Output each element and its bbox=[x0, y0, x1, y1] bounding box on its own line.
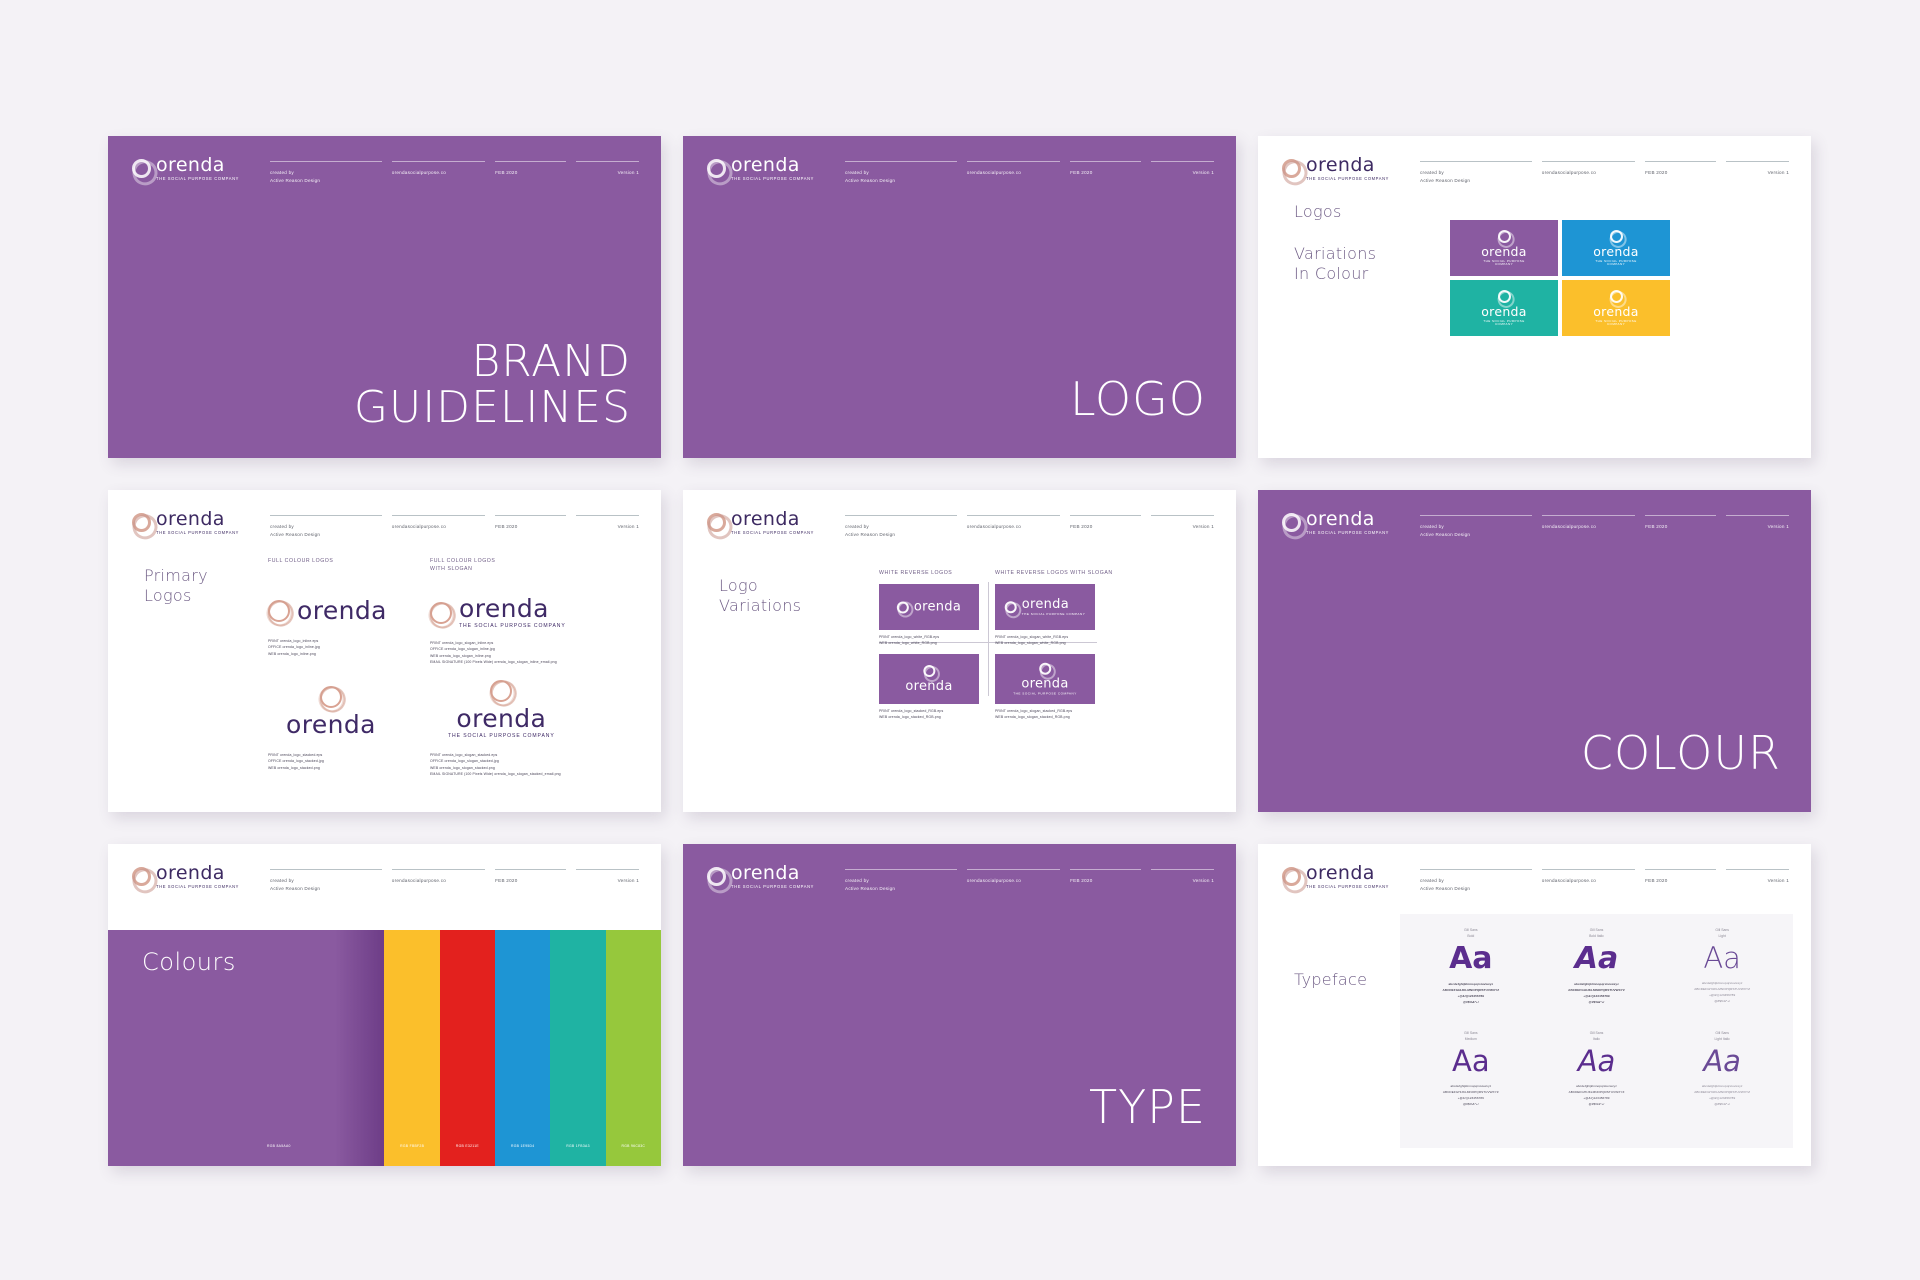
brand-wordmark: orenda bbox=[731, 156, 814, 175]
meta-created-by: created by Active Reason Design bbox=[845, 161, 967, 184]
column-head-white-reverse-slogan: WHITE REVERSE LOGOS WITH SLOGAN bbox=[995, 570, 1113, 578]
orenda-ring-icon bbox=[1282, 159, 1301, 178]
brand-lockup: orenda THE SOCIAL PURPOSE COMPANY bbox=[707, 156, 827, 181]
typeface-specimen-0[interactable]: Gill Sans Bold Aa abcdefghijklmnopqrstuv… bbox=[1408, 928, 1534, 1031]
orenda-ring-icon bbox=[1610, 290, 1623, 303]
meta-version: Version 1 bbox=[1726, 161, 1789, 184]
brand-lockup: orenda THE SOCIAL PURPOSE COMPANY bbox=[1282, 156, 1402, 181]
slide-header: orenda THE SOCIAL PURPOSE COMPANY create… bbox=[1282, 510, 1789, 538]
brand-wordmark: orenda bbox=[731, 510, 814, 529]
column-head-full-colour-slogan: FULL COLOUR LOGOS WITH SLOGAN bbox=[430, 558, 495, 574]
meta-rule bbox=[495, 515, 566, 516]
brand-slogan: THE SOCIAL PURPOSE COMPANY bbox=[1306, 531, 1389, 535]
meta-rule bbox=[967, 161, 1060, 162]
meta-rule bbox=[495, 161, 566, 162]
orenda-ring-icon bbox=[1282, 867, 1301, 886]
meta-website: orendasocialpurpose.co bbox=[967, 515, 1070, 538]
brand-slogan: THE SOCIAL PURPOSE COMPANY bbox=[156, 177, 239, 181]
meta-version-value: Version 1 bbox=[1726, 169, 1789, 177]
meta-created-label: created by bbox=[1420, 523, 1542, 531]
logo-block-stacked-slogan[interactable]: orenda THE SOCIAL PURPOSE COMPANY bbox=[448, 680, 555, 739]
meta-rule bbox=[845, 869, 957, 870]
reverse-logo-box[interactable]: orenda THE SOCIAL PURPOSE COMPANY bbox=[995, 584, 1095, 630]
meta-date-value: FEB 2020 bbox=[495, 877, 576, 885]
reverse-logo-box[interactable]: orenda THE SOCIAL PURPOSE COMPANY bbox=[995, 654, 1095, 704]
meta-rule bbox=[845, 515, 957, 516]
slide-deck-grid: orenda THE SOCIAL PURPOSE COMPANY create… bbox=[0, 0, 1920, 1280]
logo-stacked: orenda bbox=[286, 686, 376, 737]
colour-swatch-deep-purple[interactable] bbox=[335, 930, 385, 1166]
logo-block-inline[interactable]: orenda bbox=[268, 598, 387, 623]
typeface-label: Gill Sans Bold bbox=[1408, 928, 1534, 940]
meta-created-by: created by Active Reason Design bbox=[270, 161, 392, 184]
slide-colours[interactable]: orenda THE SOCIAL PURPOSE COMPANY create… bbox=[108, 844, 661, 1166]
meta-website-value: orendasocialpurpose.co bbox=[967, 877, 1070, 885]
meta-website: orendasocialpurpose.co bbox=[1542, 161, 1645, 184]
meta-rule bbox=[1070, 515, 1141, 516]
typeface-label: Gill Sans Medium bbox=[1408, 1031, 1534, 1043]
colour-swatch-hex: RGB 96C83C bbox=[606, 1144, 661, 1148]
meta-created-value: Active Reason Design bbox=[1420, 531, 1542, 539]
brand-lockup: orenda THE SOCIAL PURPOSE COMPANY bbox=[132, 864, 252, 889]
logo-block-inline-slogan[interactable]: orenda THE SOCIAL PURPOSE COMPANY bbox=[430, 596, 566, 629]
reverse-wordmark: orenda bbox=[1022, 598, 1086, 611]
divider-vertical bbox=[988, 582, 989, 696]
meta-date: FEB 2020 bbox=[495, 515, 576, 538]
meta-rule bbox=[576, 515, 639, 516]
slide-header: orenda THE SOCIAL PURPOSE COMPANY create… bbox=[132, 864, 639, 892]
meta-website: orendasocialpurpose.co bbox=[392, 161, 495, 184]
meta-version-value: Version 1 bbox=[1726, 877, 1789, 885]
meta-rule bbox=[392, 515, 485, 516]
meta-created-by: created by Active Reason Design bbox=[845, 515, 967, 538]
meta-rule bbox=[1420, 869, 1532, 870]
meta-version: Version 1 bbox=[1726, 869, 1789, 892]
slide-title: LOGO bbox=[1070, 375, 1206, 424]
variation-slogan: THE SOCIAL PURPOSE COMPANY bbox=[1477, 260, 1531, 266]
meta-rule bbox=[1542, 515, 1635, 516]
brand-wordmark: orenda bbox=[731, 864, 814, 883]
meta-version: Version 1 bbox=[576, 869, 639, 892]
meta-rule bbox=[270, 161, 382, 162]
slide-title-line1: TYPE bbox=[1089, 1083, 1206, 1132]
meta-rule bbox=[1151, 515, 1214, 516]
header-meta: created by Active Reason Design orendaso… bbox=[845, 161, 1214, 184]
meta-version-value: Version 1 bbox=[576, 877, 639, 885]
brand-lockup: orenda THE SOCIAL PURPOSE COMPANY bbox=[132, 156, 252, 181]
meta-created-value: Active Reason Design bbox=[845, 531, 967, 539]
meta-rule bbox=[1542, 161, 1635, 162]
meta-rule bbox=[1645, 515, 1716, 516]
column-head-white-reverse: WHITE REVERSE LOGOS bbox=[879, 570, 952, 578]
meta-rule bbox=[1070, 161, 1141, 162]
colour-swatch-yellow[interactable]: RGB FBBF2B bbox=[384, 930, 439, 1166]
brand-wordmark: orenda bbox=[156, 510, 239, 529]
meta-date: FEB 2020 bbox=[495, 869, 576, 892]
reverse-wordmark: orenda bbox=[914, 601, 961, 614]
meta-version-value: Version 1 bbox=[576, 169, 639, 177]
typeface-grid: Gill Sans Bold Aa abcdefghijklmnopqrstuv… bbox=[1400, 914, 1793, 1148]
brand-slogan: THE SOCIAL PURPOSE COMPANY bbox=[731, 177, 814, 181]
meta-created-by: created by Active Reason Design bbox=[845, 869, 967, 892]
meta-created-value: Active Reason Design bbox=[1420, 885, 1542, 893]
typeface-charset: abcdefghijklmnopqrstuvwxyz ABCDEFGHIJKLM… bbox=[1659, 980, 1785, 1005]
meta-version-value: Version 1 bbox=[1151, 877, 1214, 885]
logo-wordmark: orenda bbox=[297, 598, 387, 623]
meta-created-value: Active Reason Design bbox=[270, 177, 392, 185]
colour-swatch-hex: RGB FBBF2B bbox=[384, 1144, 439, 1148]
meta-version: Version 1 bbox=[1151, 515, 1214, 538]
meta-version: Version 1 bbox=[1151, 161, 1214, 184]
meta-version-value: Version 1 bbox=[1726, 523, 1789, 531]
meta-website-value: orendasocialpurpose.co bbox=[1542, 523, 1645, 531]
meta-rule bbox=[1726, 161, 1789, 162]
meta-date: FEB 2020 bbox=[1645, 161, 1726, 184]
reverse-slogan: THE SOCIAL PURPOSE COMPANY bbox=[1022, 613, 1086, 616]
typeface-specimen-4[interactable]: Gill Sans Italic Aa abcdefghijklmnopqrst… bbox=[1534, 1031, 1660, 1134]
meta-created-value: Active Reason Design bbox=[270, 885, 392, 893]
slide-title-line1: LOGO bbox=[1070, 375, 1206, 424]
typeface-charset: abcdefghijklmnopqrstuvwxyz ABCDEFGHIJKLM… bbox=[1659, 1083, 1785, 1108]
filespec-reverse-stacked-slogan: PRINT orenda_logo_slogan_stacked_RGB.eps… bbox=[995, 708, 1072, 721]
typeface-sample-aa: Aa bbox=[1408, 1047, 1534, 1076]
slide-logo-title[interactable]: orenda THE SOCIAL PURPOSE COMPANY create… bbox=[683, 136, 1236, 458]
filespec-stacked-slogan: PRINT orenda_logo_slogan_stacked.eps OFF… bbox=[430, 752, 561, 778]
meta-rule bbox=[1645, 869, 1716, 870]
reverse-inline-slogan: orenda THE SOCIAL PURPOSE COMPANY bbox=[995, 584, 1095, 630]
brand-lockup: orenda THE SOCIAL PURPOSE COMPANY bbox=[707, 510, 827, 535]
colour-swatch-hex: RGB 1E95D4 bbox=[495, 1144, 550, 1148]
meta-created-by: created by Active Reason Design bbox=[270, 869, 392, 892]
meta-created-label: created by bbox=[270, 877, 392, 885]
brand-wordmark: orenda bbox=[1306, 864, 1389, 883]
meta-rule bbox=[1420, 515, 1532, 516]
logo-variation-purple[interactable]: orenda THE SOCIAL PURPOSE COMPANY bbox=[1450, 220, 1558, 276]
filespec-reverse-inline-slogan: PRINT orenda_logo_slogan_white_RGB.eps W… bbox=[995, 634, 1068, 647]
meta-rule bbox=[576, 869, 639, 870]
header-meta: created by Active Reason Design orendaso… bbox=[1420, 869, 1789, 892]
meta-date-value: FEB 2020 bbox=[1070, 877, 1151, 885]
meta-date-value: FEB 2020 bbox=[1645, 169, 1726, 177]
orenda-ring-icon bbox=[1498, 290, 1511, 303]
orenda-ring-icon bbox=[1005, 601, 1017, 613]
header-meta: created by Active Reason Design orendaso… bbox=[270, 869, 639, 892]
logo-stacked-with-slogan: orenda THE SOCIAL PURPOSE COMPANY bbox=[448, 680, 555, 739]
slide-logo-variations[interactable]: orenda THE SOCIAL PURPOSE COMPANY create… bbox=[683, 490, 1236, 812]
logo-inline: orenda bbox=[268, 598, 387, 623]
meta-website: orendasocialpurpose.co bbox=[967, 161, 1070, 184]
reverse-slogan: THE SOCIAL PURPOSE COMPANY bbox=[1013, 692, 1077, 695]
meta-rule bbox=[967, 869, 1060, 870]
section-label-logos: Logos bbox=[1294, 202, 1342, 222]
filespec-reverse-inline: PRINT orenda_logo_white_RGB.eps WEB oren… bbox=[879, 634, 939, 647]
slide-colour-title[interactable]: orenda THE SOCIAL PURPOSE COMPANY create… bbox=[1258, 490, 1811, 812]
filespec-inline: PRINT orenda_logo_inline.eps OFFICE oren… bbox=[268, 638, 320, 657]
brand-lockup: orenda THE SOCIAL PURPOSE COMPANY bbox=[1282, 510, 1402, 535]
brand-wordmark: orenda bbox=[156, 864, 239, 883]
section-label-primary-logos: PrimaryLogos bbox=[144, 566, 208, 605]
meta-rule bbox=[1420, 161, 1532, 162]
colour-swatch-green[interactable]: RGB 96C83C bbox=[606, 930, 661, 1166]
meta-date-value: FEB 2020 bbox=[1070, 523, 1151, 531]
brand-slogan: THE SOCIAL PURPOSE COMPANY bbox=[731, 531, 814, 535]
meta-rule bbox=[392, 869, 485, 870]
slide-header: orenda THE SOCIAL PURPOSE COMPANY create… bbox=[707, 510, 1214, 538]
meta-rule bbox=[1726, 515, 1789, 516]
section-label-typeface: Typeface bbox=[1294, 970, 1367, 990]
slide-header: orenda THE SOCIAL PURPOSE COMPANY create… bbox=[707, 156, 1214, 184]
meta-website-value: orendasocialpurpose.co bbox=[1542, 169, 1645, 177]
meta-created-label: created by bbox=[1420, 877, 1542, 885]
typeface-sample-aa: Aa bbox=[1408, 944, 1534, 974]
orenda-ring-icon bbox=[707, 159, 726, 178]
orenda-ring-icon bbox=[707, 867, 726, 886]
filespec-inline-slogan: PRINT orenda_logo_slogan_inline.eps OFFI… bbox=[430, 640, 557, 666]
meta-created-value: Active Reason Design bbox=[845, 177, 967, 185]
orenda-ring-icon bbox=[897, 601, 909, 613]
meta-date: FEB 2020 bbox=[1645, 515, 1726, 538]
meta-version-value: Version 1 bbox=[576, 523, 639, 531]
slide-primary-logos[interactable]: orenda THE SOCIAL PURPOSE COMPANY create… bbox=[108, 490, 661, 812]
logo-wordmark: orenda bbox=[459, 596, 566, 621]
typeface-sample-aa: Aa bbox=[1534, 1047, 1660, 1076]
meta-rule bbox=[270, 515, 382, 516]
section-label-variations: VariationsIn Colour bbox=[1294, 244, 1376, 283]
colour-swatch-hex: RGB E3211E bbox=[440, 1144, 495, 1148]
meta-created-by: created by Active Reason Design bbox=[270, 515, 392, 538]
filespec-stacked: PRINT orenda_logo_stacked.eps OFFICE ore… bbox=[268, 752, 324, 771]
logo-block-stacked[interactable]: orenda bbox=[286, 686, 376, 737]
slide-title: TYPE bbox=[1089, 1083, 1206, 1132]
meta-created-value: Active Reason Design bbox=[845, 885, 967, 893]
typeface-charset: abcdefghijklmnopqrstuvwxyz ABCDEFGHIJKLM… bbox=[1534, 981, 1660, 1006]
slide-brand-guidelines-title[interactable]: orenda THE SOCIAL PURPOSE COMPANY create… bbox=[108, 136, 661, 458]
slide-header: orenda THE SOCIAL PURPOSE COMPANY create… bbox=[1282, 864, 1789, 892]
brand-lockup: orenda THE SOCIAL PURPOSE COMPANY bbox=[707, 864, 827, 889]
meta-version: Version 1 bbox=[576, 161, 639, 184]
meta-website-value: orendasocialpurpose.co bbox=[392, 877, 495, 885]
reverse-inline: orenda bbox=[879, 584, 979, 630]
meta-website: orendasocialpurpose.co bbox=[1542, 515, 1645, 538]
header-meta: created by Active Reason Design orendaso… bbox=[845, 515, 1214, 538]
meta-rule bbox=[576, 161, 639, 162]
meta-date: FEB 2020 bbox=[495, 161, 576, 184]
variation-slogan: THE SOCIAL PURPOSE COMPANY bbox=[1477, 320, 1531, 326]
meta-website-value: orendasocialpurpose.co bbox=[392, 523, 495, 531]
meta-rule bbox=[1151, 161, 1214, 162]
slide-title-line2: GUIDELINES bbox=[354, 385, 631, 432]
meta-created-value: Active Reason Design bbox=[1420, 177, 1542, 185]
meta-rule bbox=[1726, 869, 1789, 870]
meta-rule bbox=[1151, 869, 1214, 870]
meta-version: Version 1 bbox=[576, 515, 639, 538]
meta-date-value: FEB 2020 bbox=[495, 523, 576, 531]
reverse-logo-box[interactable]: orenda bbox=[879, 654, 979, 704]
logo-slogan: THE SOCIAL PURPOSE COMPANY bbox=[448, 733, 555, 739]
logo-wordmark: orenda bbox=[286, 712, 376, 737]
brand-slogan: THE SOCIAL PURPOSE COMPANY bbox=[731, 885, 814, 889]
reverse-logo-box[interactable]: orenda bbox=[879, 584, 979, 630]
logo-wordmark: orenda bbox=[448, 706, 555, 731]
logo-slogan: THE SOCIAL PURPOSE COMPANY bbox=[459, 623, 566, 629]
orenda-ring-icon bbox=[132, 867, 151, 886]
slide-type-title[interactable]: orenda THE SOCIAL PURPOSE COMPANY create… bbox=[683, 844, 1236, 1166]
typeface-charset: abcdefghijklmnopqrstuvwxyz ABCDEFGHIJKLM… bbox=[1408, 981, 1534, 1006]
section-title-colours: Colours bbox=[142, 948, 236, 976]
slide-header: orenda THE SOCIAL PURPOSE COMPANY create… bbox=[707, 864, 1214, 892]
colour-swatch-hex: RGB 8A5AA0 bbox=[267, 1144, 291, 1148]
meta-rule bbox=[1070, 869, 1141, 870]
meta-version: Version 1 bbox=[1726, 515, 1789, 538]
header-meta: created by Active Reason Design orendaso… bbox=[1420, 161, 1789, 184]
meta-date-value: FEB 2020 bbox=[1070, 169, 1151, 177]
brand-slogan: THE SOCIAL PURPOSE COMPANY bbox=[1306, 177, 1389, 181]
brand-slogan: THE SOCIAL PURPOSE COMPANY bbox=[156, 885, 239, 889]
slide-header: orenda THE SOCIAL PURPOSE COMPANY create… bbox=[132, 156, 639, 184]
reverse-stacked-slogan: orenda THE SOCIAL PURPOSE COMPANY bbox=[995, 654, 1095, 704]
colour-swatch-hex: RGB 1FB3A3 bbox=[550, 1144, 605, 1148]
meta-date: FEB 2020 bbox=[1645, 869, 1726, 892]
meta-date: FEB 2020 bbox=[1070, 869, 1151, 892]
logo-variation-teal[interactable]: orenda THE SOCIAL PURPOSE COMPANY bbox=[1450, 280, 1558, 336]
reverse-stacked: orenda bbox=[879, 654, 979, 704]
brand-slogan: THE SOCIAL PURPOSE COMPANY bbox=[1306, 885, 1389, 889]
typeface-sample-aa: Aa bbox=[1659, 1047, 1785, 1076]
slide-header: orenda THE SOCIAL PURPOSE COMPANY create… bbox=[132, 510, 639, 538]
header-meta: created by Active Reason Design orendaso… bbox=[270, 515, 639, 538]
meta-version: Version 1 bbox=[1151, 869, 1214, 892]
orenda-ring-icon bbox=[1610, 230, 1623, 243]
typeface-specimen-2[interactable]: Gill Sans Light Aa abcdefghijklmnopqrstu… bbox=[1659, 928, 1785, 1031]
column-head-full-colour: FULL COLOUR LOGOS bbox=[268, 558, 333, 566]
slide-typeface[interactable]: orenda THE SOCIAL PURPOSE COMPANY create… bbox=[1258, 844, 1811, 1166]
variation-slogan: THE SOCIAL PURPOSE COMPANY bbox=[1589, 260, 1643, 266]
slide-title-line1: BRAND bbox=[354, 339, 631, 386]
orenda-ring-icon bbox=[707, 513, 726, 532]
section-label-logo-variations: LogoVariations bbox=[719, 576, 801, 615]
typeface-charset: abcdefghijklmnopqrstuvwxyz ABCDEFGHIJKLM… bbox=[1534, 1083, 1660, 1108]
logo-colour-variation-grid: orenda THE SOCIAL PURPOSE COMPANY orenda… bbox=[1450, 220, 1670, 336]
typeface-label: Gill Sans Light bbox=[1659, 928, 1785, 940]
typeface-specimen-1[interactable]: Gill Sans Bold Italic Aa abcdefghijklmno… bbox=[1534, 928, 1660, 1031]
typeface-specimen-5[interactable]: Gill Sans Light Italic Aa abcdefghijklmn… bbox=[1659, 1031, 1785, 1134]
logo-variation-blue[interactable]: orenda THE SOCIAL PURPOSE COMPANY bbox=[1562, 220, 1670, 276]
meta-rule bbox=[1542, 869, 1635, 870]
brand-slogan: THE SOCIAL PURPOSE COMPANY bbox=[156, 531, 239, 535]
variation-slogan: THE SOCIAL PURPOSE COMPANY bbox=[1589, 320, 1643, 326]
orenda-ring-icon bbox=[132, 513, 151, 532]
brand-lockup: orenda THE SOCIAL PURPOSE COMPANY bbox=[132, 510, 252, 535]
orenda-ring-icon bbox=[430, 602, 452, 624]
meta-website: orendasocialpurpose.co bbox=[392, 515, 495, 538]
logo-variation-yellow[interactable]: orenda THE SOCIAL PURPOSE COMPANY bbox=[1562, 280, 1670, 336]
meta-created-by: created by Active Reason Design bbox=[1420, 161, 1542, 184]
header-meta: created by Active Reason Design orendaso… bbox=[270, 161, 639, 184]
colour-swatch-blue[interactable]: RGB 1E95D4 bbox=[495, 930, 550, 1166]
meta-rule bbox=[967, 515, 1060, 516]
slide-title: BRAND GUIDELINES bbox=[354, 339, 631, 432]
brand-wordmark: orenda bbox=[1306, 510, 1389, 529]
meta-created-by: created by Active Reason Design bbox=[1420, 869, 1542, 892]
orenda-ring-icon bbox=[132, 159, 151, 178]
meta-website: orendasocialpurpose.co bbox=[1542, 869, 1645, 892]
meta-rule bbox=[495, 869, 566, 870]
meta-version-value: Version 1 bbox=[1151, 169, 1214, 177]
typeface-charset: abcdefghijklmnopqrstuvwxyz ABCDEFGHIJKLM… bbox=[1408, 1083, 1534, 1108]
slide-title: COLOUR bbox=[1581, 729, 1781, 778]
meta-date-value: FEB 2020 bbox=[495, 169, 576, 177]
orenda-ring-icon bbox=[923, 665, 935, 677]
meta-website: orendasocialpurpose.co bbox=[392, 869, 495, 892]
colour-swatch-teal[interactable]: RGB 1FB3A3 bbox=[550, 930, 605, 1166]
meta-website-value: orendasocialpurpose.co bbox=[967, 523, 1070, 531]
orenda-ring-icon bbox=[320, 686, 342, 708]
slide-title-line1: COLOUR bbox=[1581, 729, 1781, 778]
typeface-label: Gill Sans Italic bbox=[1534, 1031, 1660, 1043]
header-meta: created by Active Reason Design orendaso… bbox=[1420, 515, 1789, 538]
meta-created-label: created by bbox=[845, 877, 967, 885]
colour-swatch-red[interactable]: RGB E3211E bbox=[440, 930, 495, 1166]
typeface-label: Gill Sans Bold Italic bbox=[1534, 928, 1660, 940]
orenda-ring-icon bbox=[268, 600, 290, 622]
slide-logos-variations-in-colour[interactable]: orenda THE SOCIAL PURPOSE COMPANY create… bbox=[1258, 136, 1811, 458]
logo-inline-with-slogan: orenda THE SOCIAL PURPOSE COMPANY bbox=[430, 596, 566, 629]
meta-version-value: Version 1 bbox=[1151, 523, 1214, 531]
filespec-reverse-stacked: PRINT orenda_logo_stacked_RGB.eps WEB or… bbox=[879, 708, 943, 721]
orenda-ring-icon bbox=[490, 680, 512, 702]
meta-created-by: created by Active Reason Design bbox=[1420, 515, 1542, 538]
meta-created-label: created by bbox=[270, 523, 392, 531]
orenda-ring-icon bbox=[1039, 663, 1051, 675]
orenda-ring-icon bbox=[1282, 513, 1301, 532]
brand-wordmark: orenda bbox=[156, 156, 239, 175]
meta-rule bbox=[392, 161, 485, 162]
meta-date-value: FEB 2020 bbox=[1645, 877, 1726, 885]
meta-website-value: orendasocialpurpose.co bbox=[967, 169, 1070, 177]
typeface-specimen-3[interactable]: Gill Sans Medium Aa abcdefghijklmnopqrst… bbox=[1408, 1031, 1534, 1134]
meta-created-label: created by bbox=[845, 523, 967, 531]
brand-lockup: orenda THE SOCIAL PURPOSE COMPANY bbox=[1282, 864, 1402, 889]
meta-rule bbox=[845, 161, 957, 162]
meta-created-label: created by bbox=[270, 169, 392, 177]
orenda-ring-icon bbox=[1498, 230, 1511, 243]
meta-rule bbox=[1645, 161, 1716, 162]
meta-created-label: created by bbox=[1420, 169, 1542, 177]
typeface-sample-aa: Aa bbox=[1534, 944, 1660, 974]
meta-date: FEB 2020 bbox=[1070, 515, 1151, 538]
meta-website: orendasocialpurpose.co bbox=[967, 869, 1070, 892]
meta-created-label: created by bbox=[845, 169, 967, 177]
meta-website-value: orendasocialpurpose.co bbox=[1542, 877, 1645, 885]
header-meta: created by Active Reason Design orendaso… bbox=[845, 869, 1214, 892]
meta-website-value: orendasocialpurpose.co bbox=[392, 169, 495, 177]
meta-rule bbox=[270, 869, 382, 870]
meta-date-value: FEB 2020 bbox=[1645, 523, 1726, 531]
typeface-sample-aa: Aa bbox=[1659, 944, 1785, 973]
meta-created-value: Active Reason Design bbox=[270, 531, 392, 539]
meta-date: FEB 2020 bbox=[1070, 161, 1151, 184]
slide-header: orenda THE SOCIAL PURPOSE COMPANY create… bbox=[1282, 156, 1789, 184]
typeface-label: Gill Sans Light Italic bbox=[1659, 1031, 1785, 1043]
brand-wordmark: orenda bbox=[1306, 156, 1389, 175]
